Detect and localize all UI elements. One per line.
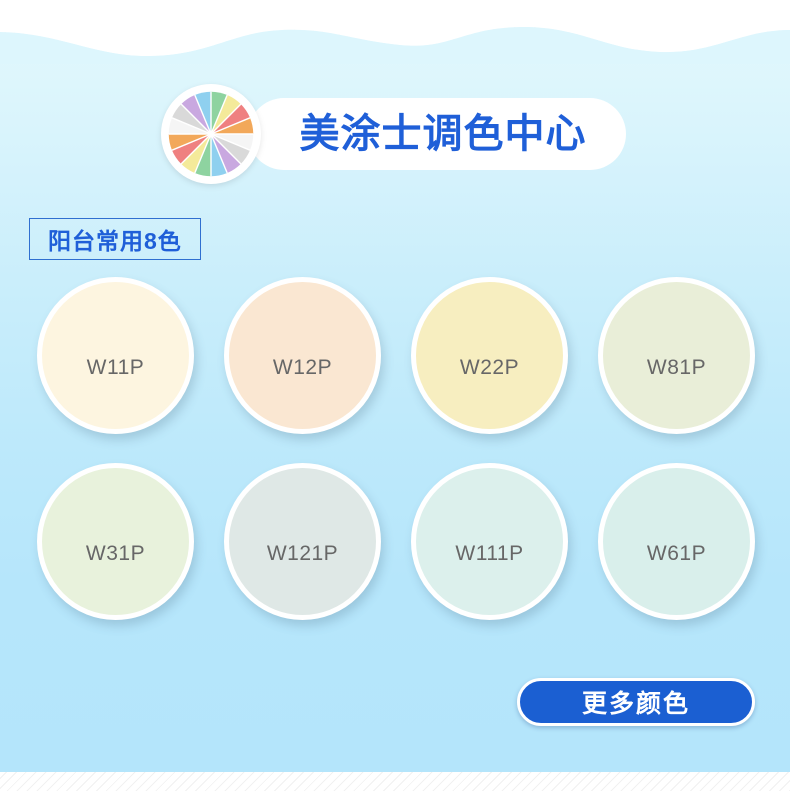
color-swatch[interactable]: W111P [411,463,568,620]
color-swatch[interactable]: W22P [411,277,568,434]
section-label-text: 阳台常用8色 [48,222,182,256]
color-swatch[interactable]: W61P [598,463,755,620]
color-swatch[interactable]: W121P [224,463,381,620]
swatch-code-label: W11P [87,356,145,380]
more-colors-label: 更多颜色 [582,684,690,720]
bottom-hatch-pattern [0,772,790,791]
top-wave-edge [0,0,790,64]
color-wheel-icon [161,84,261,184]
section-label-box: 阳台常用8色 [29,218,201,260]
header: 美涂士调色中心 [0,88,790,180]
color-swatch[interactable]: W11P [37,277,194,434]
swatch-code-label: W81P [647,356,706,380]
swatch-code-label: W31P [86,542,145,566]
color-swatch[interactable]: W12P [224,277,381,434]
more-colors-button[interactable]: 更多颜色 [517,678,755,726]
swatch-code-label: W111P [455,542,523,566]
swatch-code-label: W22P [460,356,519,380]
page-title: 美涂士调色中心 [275,98,611,170]
swatch-code-label: W61P [647,542,706,566]
color-swatch-grid: W11P W12P W22P W81P W31P W121P W111P W61… [37,277,767,620]
color-swatch[interactable]: W31P [37,463,194,620]
swatch-code-label: W121P [267,542,338,566]
color-swatch[interactable]: W81P [598,277,755,434]
page-root: 美涂士调色中心 [0,0,790,791]
swatch-code-label: W12P [273,356,332,380]
